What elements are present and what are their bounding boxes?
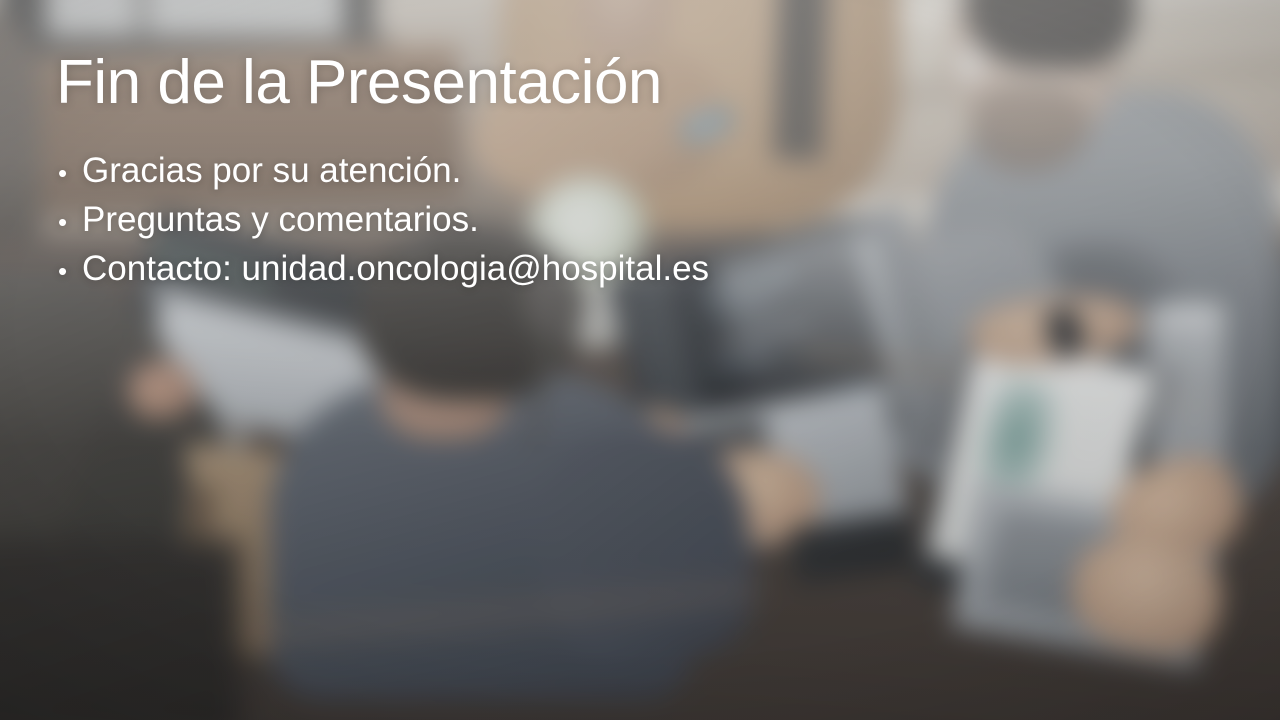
bullet-text: Gracias por su atención. xyxy=(82,146,461,195)
contact-email-text: Contacto: unidad.oncologia@hospital.es xyxy=(82,244,709,293)
bullet-icon: • xyxy=(58,247,82,296)
list-item: • Contacto: unidad.oncologia@hospital.es xyxy=(58,244,709,293)
slide-text-layer: Fin de la Presentación • Gracias por su … xyxy=(0,0,1280,720)
list-item: • Preguntas y comentarios. xyxy=(58,195,709,244)
list-item: • Gracias por su atención. xyxy=(58,146,709,195)
slide-title: Fin de la Presentación xyxy=(56,50,662,116)
slide-bullet-list: • Gracias por su atención. • Preguntas y… xyxy=(58,146,709,293)
presentation-slide: Fin de la Presentación • Gracias por su … xyxy=(0,0,1280,720)
bullet-icon: • xyxy=(58,149,82,198)
bullet-text: Preguntas y comentarios. xyxy=(82,195,479,244)
bullet-icon: • xyxy=(58,198,82,247)
